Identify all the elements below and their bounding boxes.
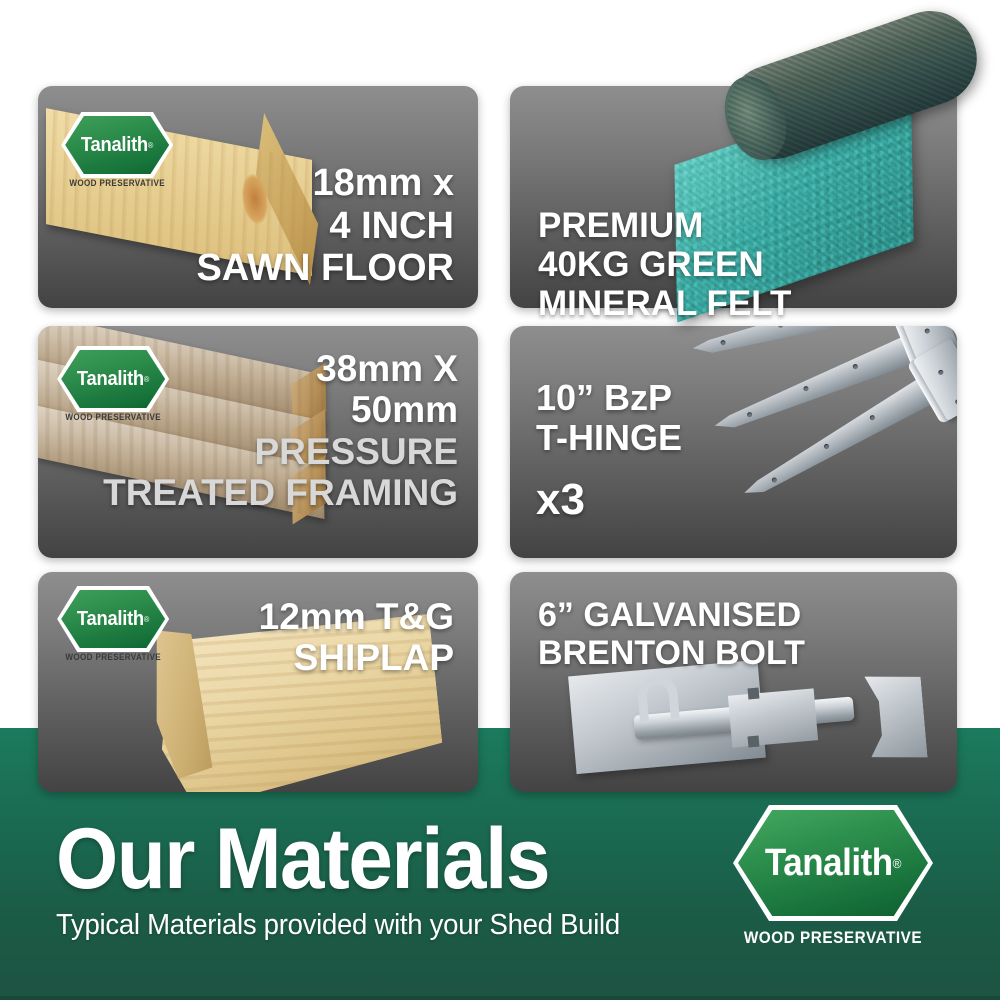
tanalith-footer-logo: Tanalith® WOOD PRESERVATIVE — [728, 810, 938, 960]
card-line: 4 INCH — [196, 205, 454, 248]
card-line: SAWN FLOOR — [196, 247, 454, 290]
tanalith-badge: Tanalith® WOOD PRESERVATIVE — [60, 590, 166, 662]
tanalith-badge: Tanalith® WOOD PRESERVATIVE — [64, 116, 170, 188]
card-line: MINERAL FELT — [538, 284, 791, 323]
card-label-framing: 38mm X 50mm PRESSURE TREATED FRAMING — [103, 348, 458, 514]
card-line: T-HINGE — [536, 418, 682, 458]
tanalith-brand-text: Tanalith — [77, 608, 144, 631]
page-title: Our Materials — [56, 820, 670, 899]
registered-mark: ® — [148, 141, 153, 150]
tanalith-hex-icon: Tanalith® — [65, 116, 169, 174]
tanalith-tagline: WOOD PRESERVATIVE — [65, 652, 161, 662]
card-line: 50mm — [103, 389, 458, 430]
card-line: BRENTON BOLT — [538, 634, 805, 672]
card-line: 12mm T&G — [259, 596, 454, 637]
material-card-mineral-felt[interactable]: PREMIUM 40KG GREEN MINERAL FELT — [510, 86, 957, 308]
material-card-sawn-floor[interactable]: Tanalith® WOOD PRESERVATIVE 18mm x 4 INC… — [38, 86, 478, 308]
tanalith-brand-text: Tanalith — [765, 842, 893, 885]
page-subtitle: Typical Materials provided with your She… — [56, 909, 683, 942]
tanalith-hex-icon-large: Tanalith® — [738, 810, 928, 916]
card-label-mineral-felt: PREMIUM 40KG GREEN MINERAL FELT — [538, 206, 791, 324]
tanalith-brand-text: Tanalith — [81, 134, 148, 157]
tanalith-tagline: WOOD PRESERVATIVE — [69, 178, 165, 188]
card-line: PREMIUM — [538, 206, 791, 245]
card-label-shiplap: 12mm T&G SHIPLAP — [259, 596, 454, 679]
card-line-quantity: x3 — [536, 475, 682, 524]
material-card-pressure-treated-framing[interactable]: Tanalith® WOOD PRESERVATIVE 38mm X 50mm … — [38, 326, 478, 558]
card-line: 40KG GREEN — [538, 245, 791, 284]
card-line: 6” GALVANISED — [538, 596, 805, 634]
card-label-sawn-floor: 18mm x 4 INCH SAWN FLOOR — [196, 162, 454, 290]
card-line: SHIPLAP — [259, 637, 454, 678]
card-line: TREATED FRAMING — [103, 472, 458, 513]
card-label-t-hinge: 10” BzP T-HINGE x3 — [536, 378, 682, 524]
card-line: PRESSURE — [103, 431, 458, 472]
registered-mark: ® — [893, 856, 901, 871]
registered-mark: ® — [144, 615, 149, 624]
card-line: 10” BzP — [536, 378, 682, 418]
material-card-t-hinge[interactable]: 10” BzP T-HINGE x3 — [510, 326, 957, 558]
tanalith-hex-icon: Tanalith® — [61, 590, 165, 648]
card-line: 18mm x — [196, 162, 454, 205]
footer-title-block: Our Materials Typical Materials provided… — [56, 820, 716, 942]
footer-content: Our Materials Typical Materials provided… — [0, 728, 1000, 1000]
card-label-brenton-bolt: 6” GALVANISED BRENTON BOLT — [538, 596, 805, 672]
tanalith-tagline: WOOD PRESERVATIVE — [739, 928, 928, 948]
card-line: 38mm X — [103, 348, 458, 389]
